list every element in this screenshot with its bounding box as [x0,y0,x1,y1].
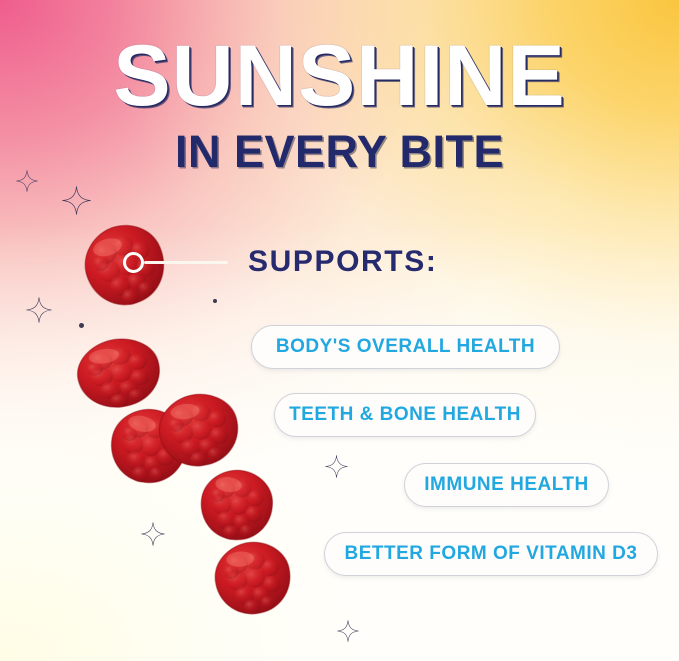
sparkle-bottom-right-icon [337,620,359,642]
dot-mid-left [79,323,84,328]
gummy-upper-left [69,331,168,415]
sunshine-vitamin-poster: SUNSHINE IN EVERY BITE SUPPORTS: BODY'S … [0,0,679,661]
sparkle-mid-left-icon [26,297,52,323]
page-subtitle: IN EVERY BITE [0,126,679,178]
sparkle-top-left-icon [16,170,38,192]
headline-block: SUNSHINE IN EVERY BITE [0,36,679,178]
callout-leader-line [144,261,228,264]
benefit-pill-label: BODY'S OVERALL HEALTH [276,336,535,358]
benefit-pill-1[interactable]: TEETH & BONE HEALTH [274,393,536,437]
benefit-pill-2[interactable]: IMMUNE HEALTH [404,463,609,507]
gummy-lower-center [194,464,280,547]
benefit-pill-label: TEETH & BONE HEALTH [289,404,521,426]
sparkle-upper-left-icon [62,186,91,215]
supports-heading: SUPPORTS: [248,245,437,279]
benefit-pill-0[interactable]: BODY'S OVERALL HEALTH [251,325,560,369]
sparkle-lower-left-icon [141,522,165,546]
page-title: SUNSHINE [0,36,679,118]
gummy-bottom [209,537,296,619]
benefit-pill-3[interactable]: BETTER FORM OF VITAMIN D3 [324,532,658,576]
dot-upper-left [213,299,217,303]
gummy-center [152,388,245,473]
benefit-pill-label: IMMUNE HEALTH [424,474,588,496]
callout-ring-icon [123,252,144,273]
benefit-pill-label: BETTER FORM OF VITAMIN D3 [345,543,638,565]
sparkle-center-right-icon [325,455,348,478]
gummy-center-left [101,399,197,492]
